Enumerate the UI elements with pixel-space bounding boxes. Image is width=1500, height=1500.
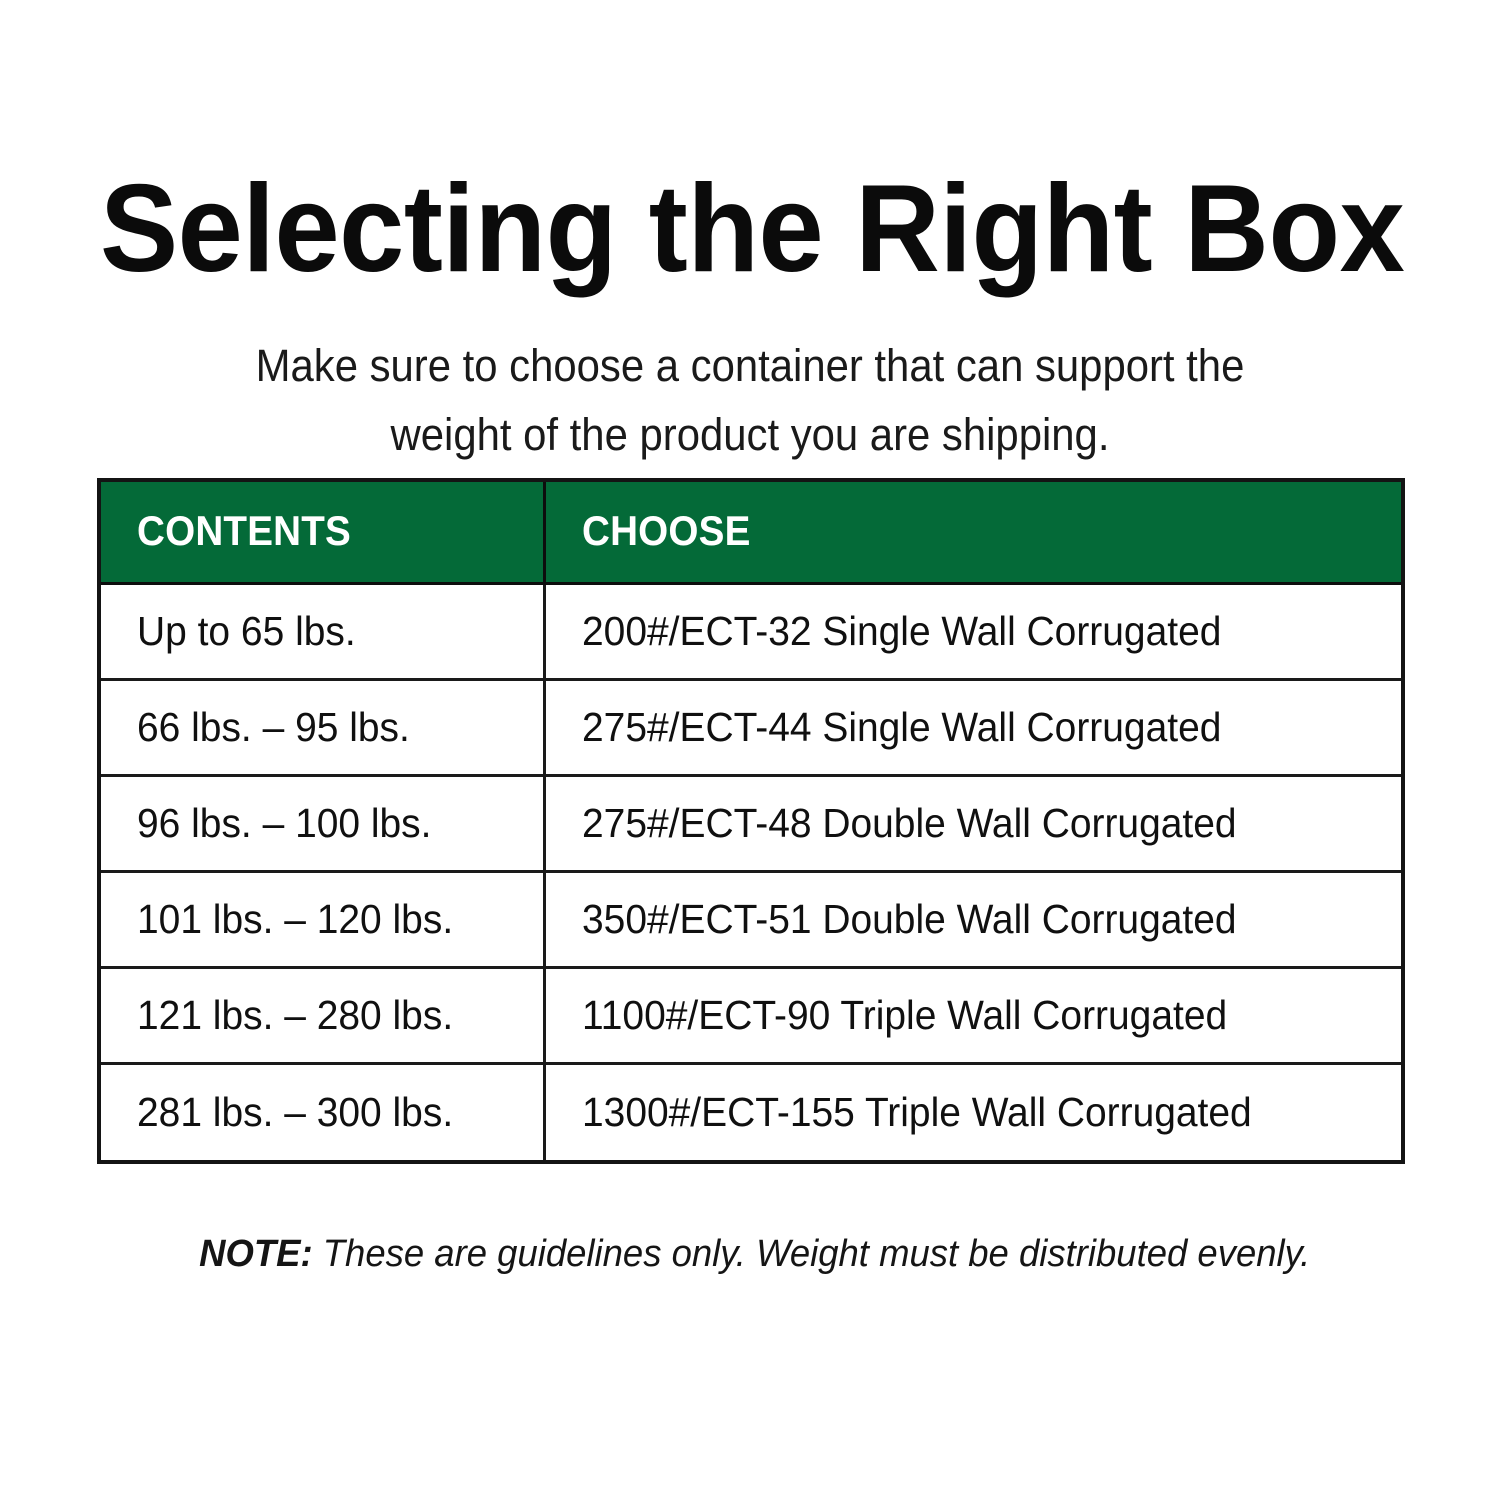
table-body: Up to 65 lbs. 200#/ECT-32 Single Wall Co…: [101, 584, 1401, 1160]
cell-contents: 101 lbs. – 120 lbs.: [101, 872, 544, 968]
cell-choose-value: 275#/ECT-48 Double Wall Corrugated: [582, 801, 1237, 846]
column-header-choose: CHOOSE: [544, 482, 1401, 584]
cell-contents: 121 lbs. – 280 lbs.: [101, 968, 544, 1064]
note-inner: NOTE: These are guidelines only. Weight …: [199, 1232, 1310, 1278]
cell-choose: 1300#/ECT-155 Triple Wall Corrugated: [544, 1064, 1401, 1160]
cell-contents-value: 281 lbs. – 300 lbs.: [137, 1090, 453, 1135]
table-header-row: CONTENTS CHOOSE: [101, 482, 1401, 584]
cell-choose: 275#/ECT-48 Double Wall Corrugated: [544, 776, 1401, 872]
table-row: 281 lbs. – 300 lbs. 1300#/ECT-155 Triple…: [101, 1064, 1401, 1160]
cell-contents-value: 66 lbs. – 95 lbs.: [137, 705, 410, 750]
table-row: Up to 65 lbs. 200#/ECT-32 Single Wall Co…: [101, 584, 1401, 680]
note-body: These are guidelines only. Weight must b…: [313, 1233, 1311, 1275]
cell-choose: 275#/ECT-44 Single Wall Corrugated: [544, 680, 1401, 776]
table-row: 121 lbs. – 280 lbs. 1100#/ECT-90 Triple …: [101, 968, 1401, 1064]
table-row: 101 lbs. – 120 lbs. 350#/ECT-51 Double W…: [101, 872, 1401, 968]
cell-contents: Up to 65 lbs.: [101, 584, 544, 680]
cell-contents-value: 121 lbs. – 280 lbs.: [137, 993, 453, 1038]
table-row: 66 lbs. – 95 lbs. 275#/ECT-44 Single Wal…: [101, 680, 1401, 776]
cell-choose-value: 275#/ECT-44 Single Wall Corrugated: [582, 705, 1221, 750]
table-row: 96 lbs. – 100 lbs. 275#/ECT-48 Double Wa…: [101, 776, 1401, 872]
column-header-choose-label: CHOOSE: [582, 510, 751, 552]
page-subtitle: Make sure to choose a container that can…: [192, 331, 1308, 469]
note-label: NOTE:: [199, 1233, 312, 1275]
cell-contents-value: 101 lbs. – 120 lbs.: [137, 897, 453, 942]
cell-contents-value: 96 lbs. – 100 lbs.: [137, 801, 431, 846]
cell-choose-value: 1100#/ECT-90 Triple Wall Corrugated: [582, 993, 1227, 1038]
cell-choose-value: 200#/ECT-32 Single Wall Corrugated: [582, 609, 1221, 654]
column-header-contents-label: CONTENTS: [137, 510, 351, 552]
box-selection-table: CONTENTS CHOOSE Up to 65 lbs. 200#/ECT-3…: [97, 478, 1405, 1164]
page-title: Selecting the Right Box: [100, 167, 1338, 291]
cell-choose-value: 1300#/ECT-155 Triple Wall Corrugated: [582, 1090, 1252, 1135]
table: CONTENTS CHOOSE Up to 65 lbs. 200#/ECT-3…: [101, 482, 1401, 1160]
cell-contents: 281 lbs. – 300 lbs.: [101, 1064, 544, 1160]
cell-contents: 66 lbs. – 95 lbs.: [101, 680, 544, 776]
cell-choose: 1100#/ECT-90 Triple Wall Corrugated: [544, 968, 1401, 1064]
column-header-contents: CONTENTS: [101, 482, 544, 584]
selecting-the-right-box-page: Selecting the Right Box Make sure to cho…: [0, 0, 1500, 1500]
cell-choose: 200#/ECT-32 Single Wall Corrugated: [544, 584, 1401, 680]
cell-choose: 350#/ECT-51 Double Wall Corrugated: [544, 872, 1401, 968]
table-head: CONTENTS CHOOSE: [101, 482, 1401, 584]
note: NOTE: These are guidelines only. Weight …: [100, 1232, 1410, 1278]
cell-contents: 96 lbs. – 100 lbs.: [101, 776, 544, 872]
cell-choose-value: 350#/ECT-51 Double Wall Corrugated: [582, 897, 1237, 942]
cell-contents-value: Up to 65 lbs.: [137, 609, 356, 654]
